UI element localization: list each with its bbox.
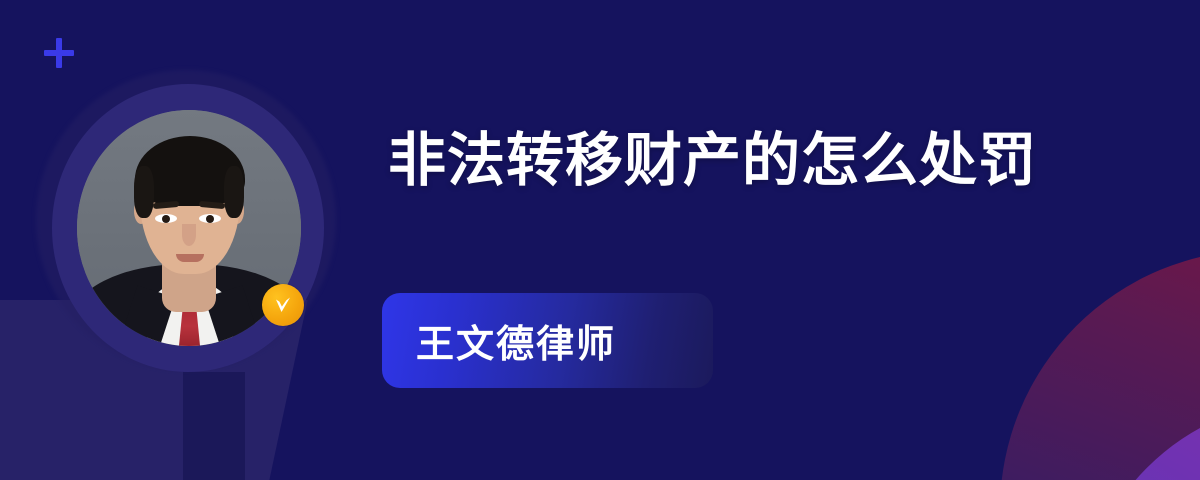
lawyer-name-button[interactable]: 王文德律师 <box>382 293 713 388</box>
page-title: 非法转移财产的怎么处罚 <box>388 126 1037 196</box>
portrait-hair-right <box>224 166 244 218</box>
avatar <box>52 84 324 372</box>
plus-icon <box>44 38 74 68</box>
portrait-eye-right <box>199 214 221 223</box>
portrait-mouth <box>176 254 204 262</box>
plus-icon-bar-vertical <box>56 38 62 68</box>
decorative-band-vertical <box>183 372 245 480</box>
portrait-eye-left <box>155 214 177 223</box>
promo-banner: 非法转移财产的怎么处罚 王文德律师 <box>0 0 1200 480</box>
verified-check-icon <box>262 284 304 326</box>
lawyer-name-label: 王文德律师 <box>416 313 616 368</box>
portrait-hair-left <box>134 166 154 218</box>
decorative-circle-crimson <box>1000 250 1200 480</box>
portrait-nose <box>182 224 196 246</box>
